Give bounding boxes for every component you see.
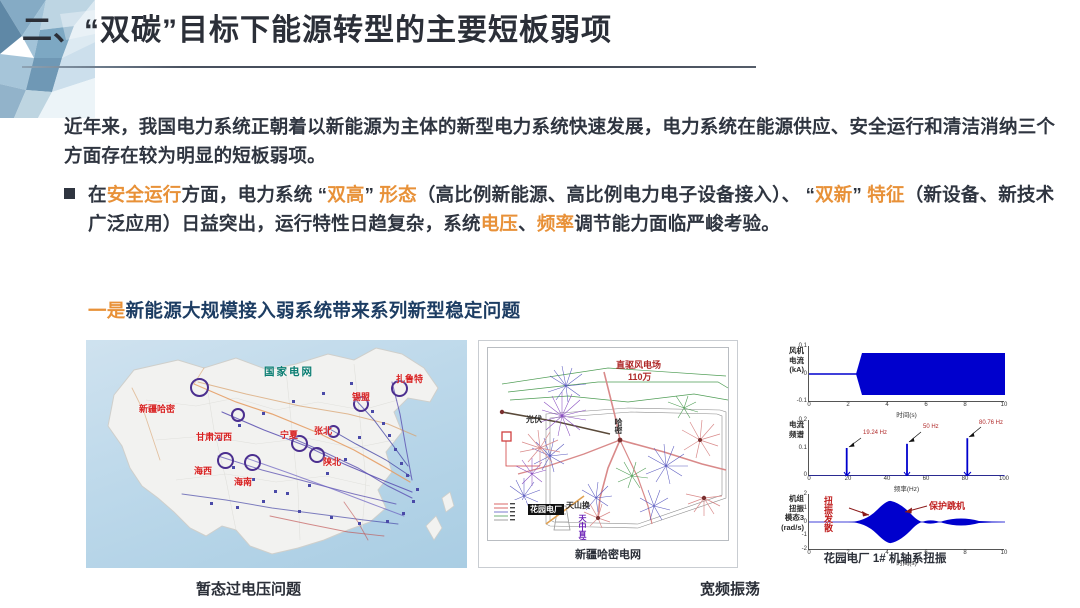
bullet-seg-4: （高比例新能源、高比例电力电子设备接入）、 “ bbox=[417, 184, 815, 205]
chart-0-ytick-1: 0 bbox=[804, 371, 807, 377]
bullet-seg-3: ” bbox=[365, 184, 380, 205]
map-ring-1 bbox=[231, 408, 245, 422]
figure-wideband-oscillation-charts: 风机 电流 (kA) 0.1 0 -0.1 0 2 4 6 8 10 时间(s) bbox=[760, 340, 1010, 568]
chart-0-trace bbox=[809, 346, 1005, 402]
chart-0-ylabel: 风机 电流 (kA) bbox=[760, 346, 804, 375]
chart-2-plot-area: 2 1 0 -1 -2 0 2 4 6 8 10 时间(s) bbox=[808, 494, 1004, 550]
bullet-seg-8: 调节能力面临严峻考验。 bbox=[574, 213, 780, 234]
chart-2-ylabel-line-3: (rad/s) bbox=[760, 523, 804, 533]
map-label-1: 甘肃河西 bbox=[196, 430, 232, 443]
map-label-state-grid: 国家电网 bbox=[264, 364, 314, 379]
bullet-seg-2: 方面，电力系统 “ bbox=[182, 184, 328, 205]
map-label-7: 海西 bbox=[194, 464, 212, 477]
chart-2-ytick-0: 2 bbox=[804, 491, 807, 497]
map-label-8: 海南 bbox=[234, 475, 252, 488]
title-divider bbox=[22, 66, 756, 68]
chart-2-ytick-2: 0 bbox=[804, 519, 807, 525]
chart-0-xtick-4: 8 bbox=[963, 402, 966, 408]
bullet-seg-7: 、 bbox=[518, 213, 537, 234]
bullet-seg-5: ” bbox=[852, 184, 867, 205]
figure-china-grid-map: 国家电网新疆哈密甘肃河西宁夏张北锡盟扎鲁特陕北海西海南 bbox=[86, 340, 467, 568]
network-label-4: 天山换 bbox=[566, 500, 590, 511]
network-label-5: 天中直流 bbox=[578, 514, 586, 541]
chart-0-xtick-3: 6 bbox=[924, 402, 927, 408]
chart-1-ylabel: 电流 频谱 bbox=[760, 420, 804, 439]
chart-1-peak-label-2: 80.76 Hz bbox=[979, 420, 1003, 426]
chart-0-xtick-0: 0 bbox=[807, 402, 810, 408]
chart-1-ytick-0: 0.2 bbox=[799, 417, 807, 423]
chart-1-peak-label-0: 19.24 Hz bbox=[863, 430, 887, 436]
chart-1-trace bbox=[809, 420, 1005, 476]
chart-2-trace bbox=[809, 494, 1005, 550]
sub-heading-rest: 新能源大规模接入弱系统带来系列新型稳定问题 bbox=[126, 300, 521, 321]
figure-row: 国家电网新疆哈密甘肃河西宁夏张北锡盟扎鲁特陕北海西海南 bbox=[86, 340, 1010, 568]
map-label-4: 锡盟 bbox=[352, 390, 370, 403]
chart-0-ylabel-line-2: (kA) bbox=[760, 365, 804, 375]
bullet-highlight-1: 安全运行 bbox=[107, 184, 182, 205]
map-label-0: 新疆哈密 bbox=[139, 402, 175, 415]
sub-heading-highlight: 一是 bbox=[88, 300, 126, 321]
chart-2-ytick-3: -1 bbox=[802, 532, 807, 538]
chart-0-plot-area: 0.1 0 -0.1 0 2 4 6 8 10 时间(s) bbox=[808, 346, 1004, 402]
network-label-2: 光伏 bbox=[526, 414, 542, 425]
chart-2-ylabel-line-1: 扭振 bbox=[760, 504, 804, 514]
chart-0-ytick-2: -0.1 bbox=[797, 398, 807, 404]
map-ring-8 bbox=[244, 454, 261, 471]
network-diagram-canvas: 直驱风电场110万光伏哈密天山换天中直流花园电厂 bbox=[487, 347, 729, 541]
figure-hami-grid-diagram: 直驱风电场110万光伏哈密天山换天中直流花园电厂 新疆哈密电网 bbox=[478, 340, 738, 568]
bullet-highlight-7: 频率 bbox=[537, 213, 574, 234]
slide-root: 二、“双碳”目标下能源转型的主要短板弱项 近年来，我国电力系统正朝着以新能源为主… bbox=[0, 0, 1080, 608]
intro-paragraph: 近年来，我国电力系统正朝着以新能源为主体的新型电力系统快速发展，电力系统在能源供… bbox=[64, 112, 1064, 170]
bullet-highlight-3: 形态 bbox=[379, 184, 416, 205]
chart-2-annotation-1: 保护跳机 bbox=[929, 499, 965, 512]
caption-wideband-oscillation: 宽频振荡 bbox=[700, 578, 760, 599]
chart-current-spectrum: 电流 频谱 0.2 0.1 0 0 20 40 60 80 100 频率(Hz) bbox=[760, 416, 1010, 488]
network-label-1: 110万 bbox=[628, 370, 652, 383]
map-label-5: 扎鲁特 bbox=[396, 372, 423, 385]
sub-heading: 一是新能源大规模接入弱系统带来系列新型稳定问题 bbox=[88, 297, 520, 323]
chart-2-ylabel-line-2: 模态3 bbox=[760, 513, 804, 523]
map-ring-0 bbox=[190, 378, 209, 397]
chart-2-ylabel: 机组 扭振 模态3 (rad/s) bbox=[760, 494, 804, 532]
chart-0-ylabel-line-0: 风机 bbox=[760, 346, 804, 356]
chart-1-ylabel-line-0: 电流 bbox=[760, 420, 804, 430]
bullet-highlight-2: 双高 bbox=[327, 184, 364, 205]
map-label-3: 张北 bbox=[314, 424, 332, 437]
chart-1-xtick-4: 80 bbox=[962, 476, 969, 482]
network-label-6: 花园电厂 bbox=[528, 504, 564, 515]
chart-0-xtick-1: 2 bbox=[846, 402, 849, 408]
chart-1-xtick-1: 20 bbox=[845, 476, 852, 482]
chart-1-xtick-5: 100 bbox=[999, 476, 1009, 482]
network-diagram-vector bbox=[488, 348, 729, 541]
map-ring-7 bbox=[217, 452, 234, 469]
chart-wind-turbine-current: 风机 电流 (kA) 0.1 0 -0.1 0 2 4 6 8 10 时间(s) bbox=[760, 342, 1010, 414]
bullet-paragraph-text: 在安全运行方面，电力系统 “双高” 形态（高比例新能源、高比例电力电子设备接入）… bbox=[88, 180, 1066, 238]
bullet-highlight-4: 双新 bbox=[815, 184, 852, 205]
map-label-2: 宁夏 bbox=[280, 428, 298, 441]
chart-1-xtick-0: 0 bbox=[807, 476, 810, 482]
map-label-6: 陕北 bbox=[323, 455, 341, 468]
chart-0-xtick-5: 10 bbox=[1001, 402, 1008, 408]
bullet-highlight-5: 特征 bbox=[867, 184, 904, 205]
chart-1-peak-label-1: 50 Hz bbox=[923, 424, 939, 430]
bullet-highlight-6: 电压 bbox=[481, 213, 518, 234]
charts-figure-caption: 花园电厂 1# 机轴系扭振 bbox=[760, 550, 1010, 566]
chart-2-ylabel-line-0: 机组 bbox=[760, 494, 804, 504]
bullet-seg-1: 在 bbox=[88, 184, 107, 205]
title-block: 二、“双碳”目标下能源转型的主要短板弱项 bbox=[22, 8, 1062, 70]
caption-transient-overvoltage: 暂态过电压问题 bbox=[196, 578, 301, 599]
page-title: 二、“双碳”目标下能源转型的主要短板弱项 bbox=[22, 8, 1062, 54]
chart-1-plot-area: 0.2 0.1 0 0 20 40 60 80 100 频率(Hz) bbox=[808, 420, 1004, 476]
chart-1-ylabel-line-1: 频谱 bbox=[760, 430, 804, 440]
chart-1-xtick-3: 60 bbox=[923, 476, 930, 482]
network-label-3: 哈密 bbox=[614, 418, 622, 434]
chart-0-xtick-2: 4 bbox=[885, 402, 888, 408]
chart-0-ylabel-line-1: 电流 bbox=[760, 356, 804, 366]
bullet-paragraph: 在安全运行方面，电力系统 “双高” 形态（高比例新能源、高比例电力电子设备接入）… bbox=[64, 180, 1066, 238]
chart-2-ytick-1: 1 bbox=[804, 505, 807, 511]
network-figure-caption: 新疆哈密电网 bbox=[479, 546, 737, 562]
bullet-square-icon bbox=[64, 188, 75, 199]
chart-0-ytick-0: 0.1 bbox=[799, 343, 807, 349]
chart-1-ytick-1: 0.1 bbox=[799, 445, 807, 451]
chart-1-xtick-2: 40 bbox=[884, 476, 891, 482]
chart-2-annotation-0: 扭振发散 bbox=[823, 496, 833, 532]
